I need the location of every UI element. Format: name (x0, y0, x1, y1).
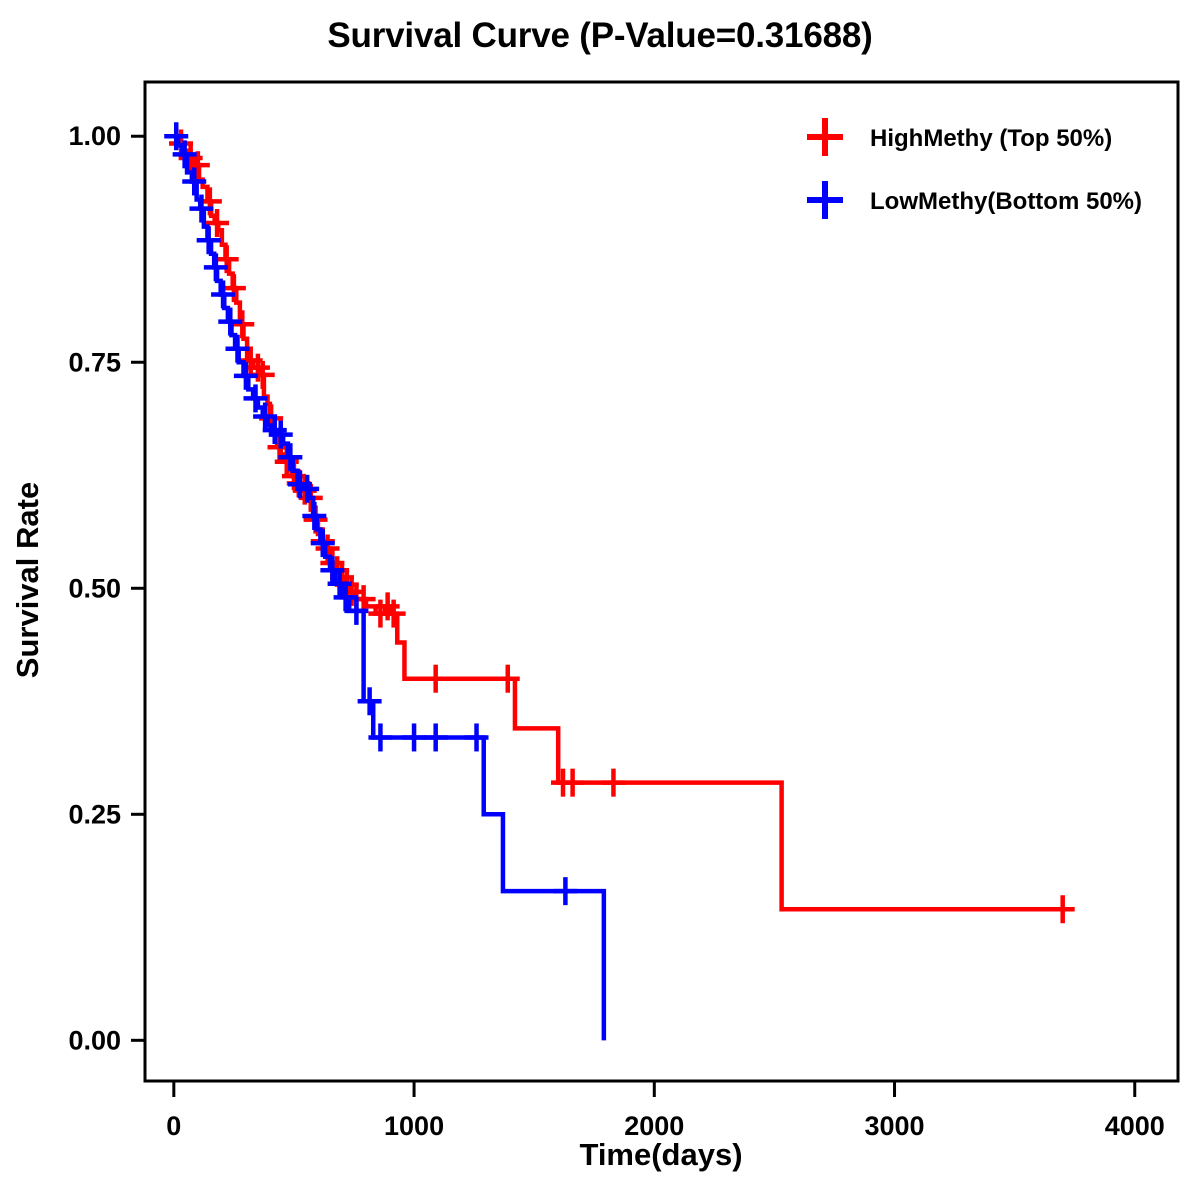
y-tick-label: 0.25 (68, 799, 121, 829)
x-tick-label: 1000 (384, 1111, 444, 1141)
y-tick-label: 1.00 (68, 121, 121, 151)
x-tick-label: 0 (166, 1111, 181, 1141)
legend-item-label: LowMethy(Bottom 50%) (870, 188, 1142, 215)
x-tick-label: 3000 (864, 1111, 924, 1141)
x-axis-label: Time(days) (579, 1137, 742, 1172)
y-tick-label: 0.00 (68, 1025, 121, 1055)
survival-curve-plot: 0.000.250.500.751.00 01000200030004000 S… (0, 0, 1200, 1200)
y-axis-ticks: 0.000.250.500.751.00 (68, 121, 145, 1055)
y-tick-label: 0.50 (68, 573, 121, 603)
chart-page: Survival Curve (P-Value=0.31688) 0.000.2… (0, 0, 1200, 1200)
plot-frame (145, 82, 1178, 1081)
y-axis-label: Survival Rate (10, 482, 45, 678)
x-tick-label: 4000 (1105, 1111, 1165, 1141)
y-tick-label: 0.75 (68, 347, 121, 377)
legend-item-label: HighMethy (Top 50%) (870, 125, 1112, 152)
x-axis-ticks: 01000200030004000 (166, 1081, 1164, 1141)
